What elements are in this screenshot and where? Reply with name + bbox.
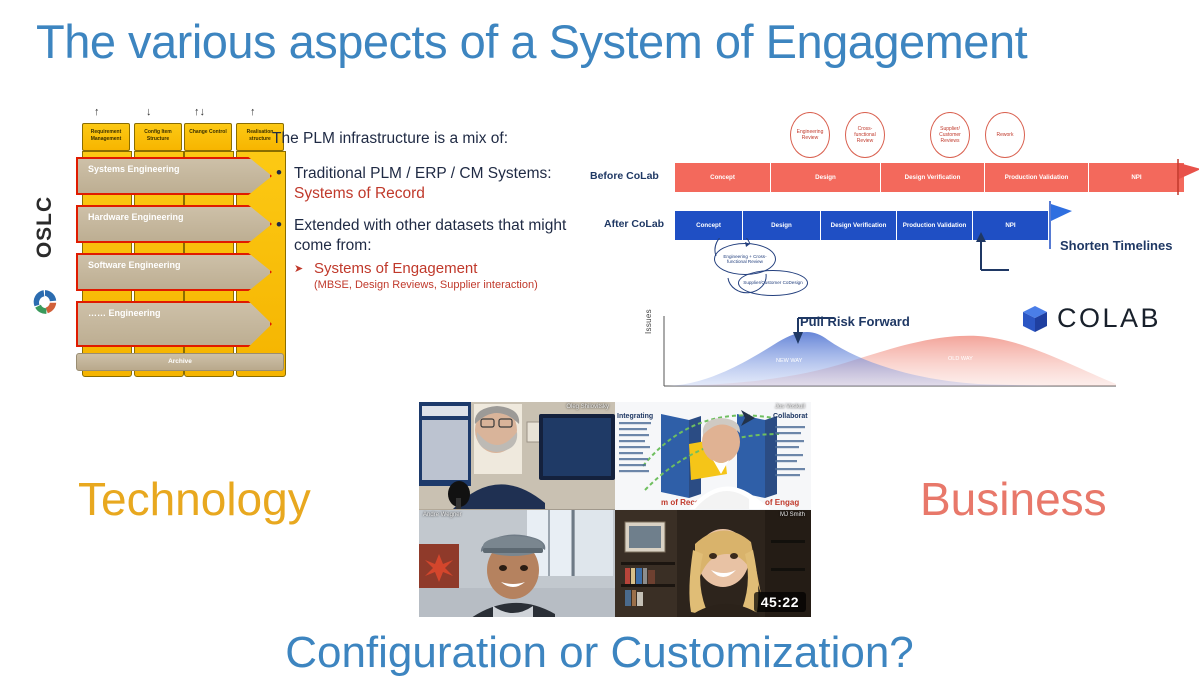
after-colab-label: After CoLab [604, 218, 664, 230]
before-segment-concept: Concept [675, 163, 771, 192]
oslc-swirl-icon [31, 288, 59, 316]
caption-configuration-or-customization: Configuration or Customization? [0, 628, 1199, 678]
oslc-diagram: OSLC ↑ ↓ ↑↓ ↑ Requirement Management Con… [22, 105, 290, 385]
band-software-engineering: Software Engineering [76, 253, 272, 291]
before-colab-label: Before CoLab [590, 170, 659, 182]
participant-3-name: Andre Wegner [423, 512, 462, 518]
band-generic-engineering: …… Engineering [76, 301, 272, 347]
band-hardware-engineering: Hardware Engineering [76, 205, 272, 243]
column-header-config-item-structure: Config Item Structure [134, 123, 182, 151]
caption-business: Business [920, 472, 1107, 526]
column-tick-0: ↑ [94, 107, 100, 118]
review-circle-rework: Rework [985, 112, 1025, 158]
video-tile-participant-2[interactable]: Integrating Collaborat m of Record of En… [615, 402, 811, 510]
participant-2-name: Jos Voskuil [775, 404, 805, 410]
oslc-matrix: ↑ ↓ ↑↓ ↑ Requirement Management Config I… [74, 105, 290, 385]
plm-lead-line: The PLM infrastructure is a mix of: [272, 130, 602, 148]
column-header-change-control: Change Control [184, 123, 232, 151]
after-loop-arrows-icon [708, 238, 828, 308]
column-tick-1: ↓ [146, 107, 152, 118]
review-circle-supplier-customer: Supplier/ Customer Reviews [930, 112, 970, 158]
archive-bar: Archive [76, 353, 284, 371]
chart-y-axis-label: Issues [644, 309, 653, 334]
caption-technology: Technology [78, 472, 311, 526]
video-call-grid[interactable]: Oleg Shilovitsky [419, 402, 811, 617]
plm-bullet-1-highlight: Systems of Record [294, 185, 425, 202]
review-circle-engineering-review: Engineering Review [790, 112, 830, 158]
video-tile-2-scene: Integrating Collaborat m of Record of En… [615, 402, 811, 509]
column-header-requirement-management: Requirement Management [82, 123, 130, 151]
colab-brand-logo: COLAB [1020, 303, 1161, 334]
page-title: The various aspects of a System of Engag… [36, 14, 1156, 70]
plm-bullet-2: Extended with other datasets that might … [272, 216, 602, 292]
before-segment-design-verification: Design Verification [881, 163, 985, 192]
oslc-logo-text: OSLC [33, 182, 57, 272]
before-segment-design: Design [771, 163, 881, 192]
before-segment-npi: NPI [1089, 163, 1185, 192]
column-tick-2: ↑↓ [194, 107, 205, 118]
pull-risk-forward-label: Pull Risk Forward [800, 314, 910, 329]
video-tile-1-scene [419, 402, 615, 509]
video-tile-participant-4[interactable]: MJ Smith 45:22 [615, 510, 811, 618]
colab-cube-icon [1020, 304, 1050, 334]
band-systems-engineering: Systems Engineering [76, 157, 272, 195]
after-segment-concept: Concept [675, 211, 743, 240]
svg-text:Collaborat: Collaborat [773, 413, 808, 420]
participant-1-name: Oleg Shilovitsky [566, 404, 609, 410]
video-tile-participant-3[interactable]: Andre Wegner [419, 510, 615, 618]
video-tile-participant-1[interactable]: Oleg Shilovitsky [419, 402, 615, 510]
review-circle-cross-functional: Cross-functional Review [845, 112, 885, 158]
slide-canvas: The various aspects of a System of Engag… [0, 0, 1199, 690]
before-segment-production-validation: Production Validation [985, 163, 1089, 192]
plm-bullet-1-text: Traditional PLM / ERP / CM Systems: [294, 165, 552, 182]
call-timer: 45:22 [754, 592, 806, 612]
before-finish-flag-icon [1175, 159, 1199, 197]
chart-label-old-way: OLD WAY [948, 356, 973, 362]
plm-subitem: Systems of Engagement [294, 259, 602, 278]
after-segment-production-validation: Production Validation [897, 211, 973, 240]
svg-text:of Engag: of Engag [765, 498, 799, 507]
oslc-logo: OSLC [25, 190, 65, 315]
video-tile-3-scene [419, 510, 615, 618]
after-segment-design: Design [743, 211, 821, 240]
svg-text:Integrating: Integrating [617, 413, 653, 420]
before-colab-bar: Concept Design Design Verification Produ… [675, 163, 1165, 192]
plm-bullet-2-text: Extended with other datasets that might … [294, 217, 566, 254]
participant-4-name: MJ Smith [780, 512, 805, 518]
plm-bullet-1: Traditional PLM / ERP / CM Systems: Syst… [272, 164, 602, 204]
shorten-timelines-arrow-icon [975, 230, 1035, 274]
column-tick-3: ↑ [250, 107, 256, 118]
shorten-timelines-label: Shorten Timelines [1060, 238, 1172, 254]
colab-wordmark: COLAB [1057, 303, 1161, 334]
plm-text-block: The PLM infrastructure is a mix of: Trad… [272, 130, 602, 304]
after-segment-design-verification: Design Verification [821, 211, 897, 240]
plm-subnote: (MBSE, Design Reviews, Supplier interact… [294, 278, 602, 292]
chart-label-new-way: NEW WAY [776, 358, 803, 364]
